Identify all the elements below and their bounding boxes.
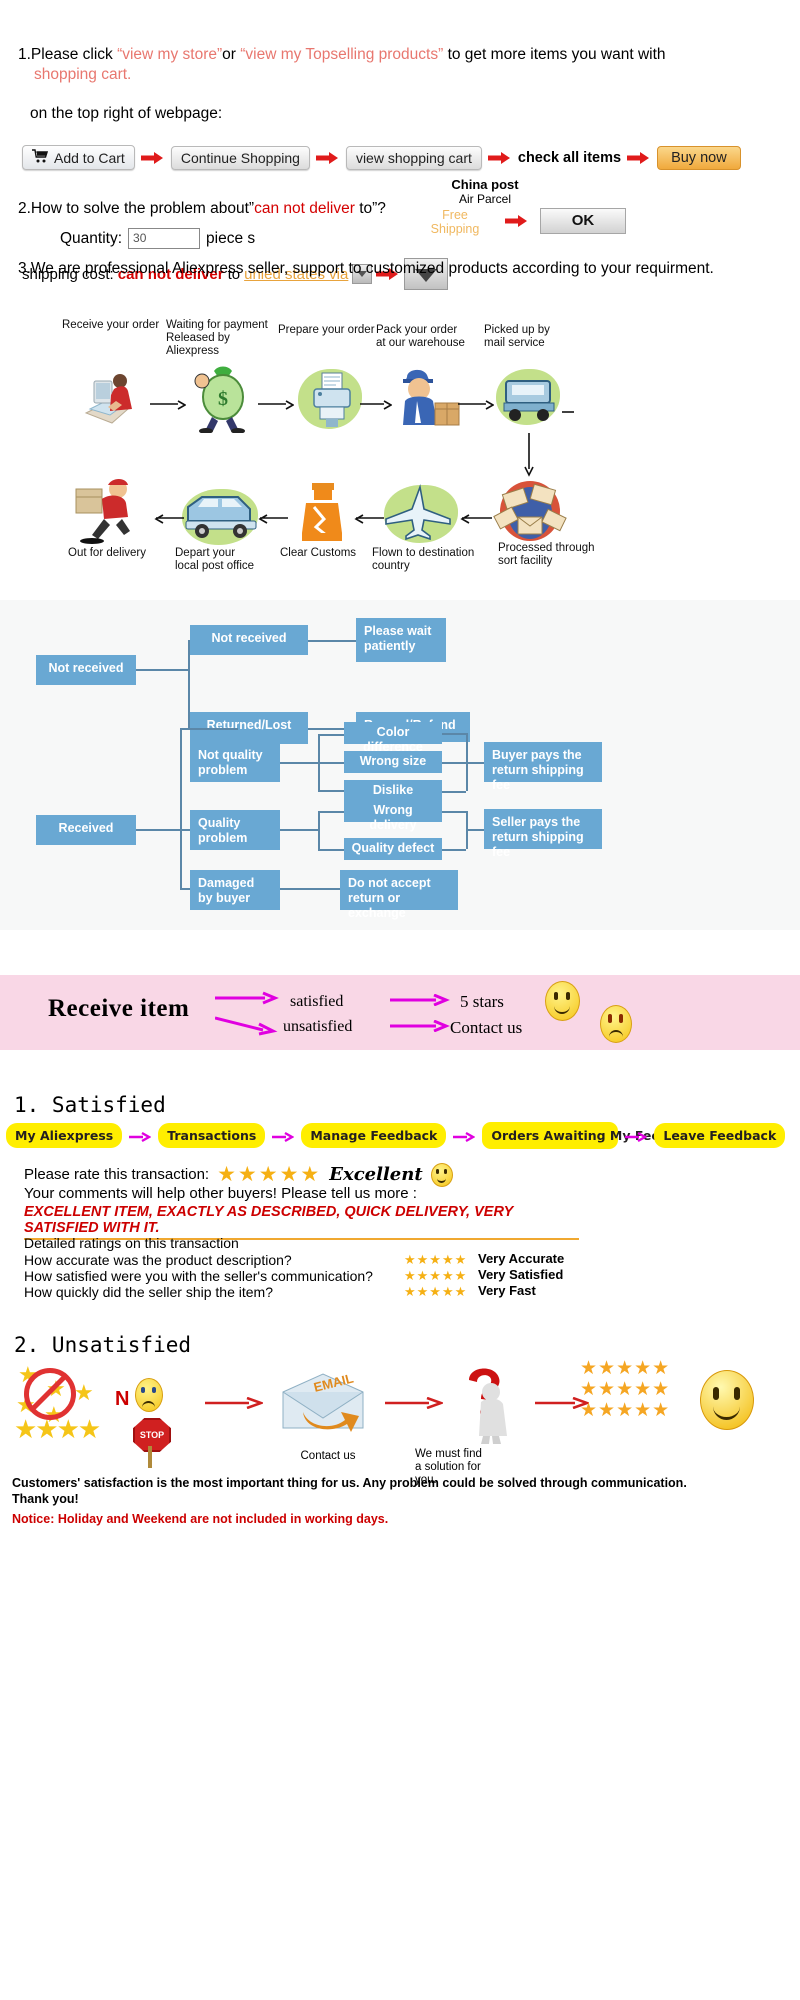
flow-no-return: Do not accept return or exchange [340,870,458,910]
sad-face-icon [600,1005,632,1043]
s1-text-mid: or [222,46,240,63]
add-to-cart-button[interactable]: Add to Cart [22,145,135,170]
magenta-arrow-icon [129,1130,151,1142]
shopping-cart-link[interactable]: shopping cart. [34,66,131,83]
s1-text-after: to get more items you want with [443,46,665,63]
prohibition-icon [24,1368,76,1420]
flow-color-difference: Color difference [344,722,442,744]
piece-label: piece s [206,230,255,248]
arrow-right-icon [627,151,651,165]
s1-text-before: 1.Please click [18,46,117,63]
flow-not-received-root: Not received [36,655,136,685]
banner-satisfied-label: satisfied [290,993,343,1011]
happy-face-icon [545,981,580,1021]
feedback-step-flow: My Aliexpress Transactions Manage Feedba… [6,1122,785,1149]
detailed-ratings-heading: Detailed ratings on this transaction [24,1235,239,1251]
arrow-right-icon [205,1396,263,1414]
crying-face-icon [135,1378,163,1412]
delivery-van-icon [182,485,260,549]
process-arrow-left-icon [458,511,492,521]
process-arrow-icon [150,397,186,407]
quantity-row: Quantity: 30 piece s [60,228,255,249]
step-orders-awaiting-my-feedback[interactable]: Orders Awaiting My Feedback [482,1122,618,1149]
worker-packing-icon [395,363,469,427]
receive-item-banner: Receive item satisfied unsatisfied 5 sta… [0,975,800,1050]
flow-line [318,790,346,792]
flow-line [318,762,346,764]
customs-officer-icon [288,481,356,545]
rating-stars-communication: ★★★★★ [404,1268,467,1284]
arrow-right-icon [488,151,512,165]
flow-not-received-branch: Not received [190,625,308,655]
view-my-store-link[interactable]: “view my store” [117,46,222,63]
flow-line [308,640,358,642]
china-post-subtitle: Air Parcel [420,192,550,206]
process-label-depart-post-office: Depart your local post office [175,547,275,573]
no-label: N [115,1388,129,1411]
rating-word: Excellent [329,1164,422,1185]
process-label-picked-up: Picked up by mail service [484,324,574,350]
promo-page: 1.Please click “view my store”or “view m… [0,0,800,2000]
rating-value-shipping-speed: Very Fast [478,1283,536,1298]
rating-value-accuracy: Very Accurate [478,1251,564,1266]
magenta-arrow-icon [215,1015,279,1042]
flow-line [280,829,320,831]
view-topselling-link[interactable]: “view my Topselling products” [240,46,443,63]
happy-face-icon [700,1370,754,1430]
rating-stars-shipping-speed: ★★★★★ [404,1284,467,1300]
process-arrow-icon [360,397,392,407]
checkout-button-flow: Add to Cart Continue Shopping view shopp… [22,145,741,170]
process-arrow-left-icon [352,511,384,521]
stop-sign-icon: STOP [133,1418,173,1452]
flow-line [442,849,466,851]
flow-line [136,829,180,831]
quantity-input[interactable]: 30 [128,228,200,249]
magenta-arrow-icon [215,991,279,1010]
step-my-aliexpress[interactable]: My Aliexpress [6,1123,122,1148]
printer-icon [300,367,364,431]
airplane-icon [384,483,458,547]
section3-heading: 3.We are professional Aliexpress seller,… [18,260,714,278]
flow-line [442,791,466,793]
five-star-grid: ★★★★★★★★★★★★★★★ [580,1358,700,1421]
s2-q-prefix: 2.How to solve the problem about” [18,200,254,217]
flow-line [442,811,466,813]
cart-icon [32,149,49,166]
magenta-arrow-icon [453,1130,475,1142]
question-mark-person-icon [445,1358,525,1444]
return-policy-flowchart: Not received Not received Returned/Lost … [0,600,800,930]
contact-us-label: Contact us [283,1450,373,1463]
flow-line [466,829,486,831]
flow-dislike: Dislike [344,780,442,802]
china-post-title: China post [420,177,550,192]
footer-notice: Notice: Holiday and Weekend are not incl… [12,1512,388,1526]
flow-line [180,728,182,888]
rating-stars-accuracy: ★★★★★ [404,1252,467,1268]
rating-question-accuracy: How accurate was the product description… [24,1252,292,1268]
flow-received-root: Received [36,815,136,845]
process-label-flown-destination: Flown to destination country [372,547,482,573]
happy-face-icon [431,1163,453,1187]
banner-five-stars-label: 5 stars [460,992,504,1012]
process-label-out-for-delivery: Out for delivery [68,547,168,560]
flow-line [442,762,466,764]
process-label-clear-customs: Clear Customs [280,547,380,560]
step-leave-feedback[interactable]: Leave Feedback [654,1123,785,1148]
process-label-pack-order: Pack your order at our warehouse [376,324,471,350]
rating-stars[interactable]: ★★★★★ [217,1162,321,1187]
unsatisfied-heading: 2. Unsatisfied [14,1333,191,1357]
view-shopping-cart-button[interactable]: view shopping cart [346,146,482,170]
rate-transaction-row: Please rate this transaction: ★★★★★ Exce… [24,1162,453,1187]
flow-wrong-size: Wrong size [344,751,442,773]
flow-line [318,811,346,813]
flow-quality-problem: Quality problem [190,810,280,850]
banner-unsatisfied-label: unsatisfied [283,1018,352,1036]
process-label-waiting-payment: Waiting for payment Released by Aliexpre… [166,319,276,358]
process-arrow-down-icon [524,433,534,482]
add-to-cart-label: Add to Cart [54,150,125,166]
quantity-label: Quantity: [60,230,122,248]
process-arrow-left-icon [256,511,288,521]
magenta-arrow-icon [390,1019,450,1037]
s2-q-suffix: to”? [355,200,386,217]
flow-line [318,811,320,849]
continue-shopping-button[interactable]: Continue Shopping [171,146,310,170]
flow-line [466,762,486,764]
comments-help-label: Your comments will help other buyers! Pl… [24,1185,417,1202]
rating-question-shipping-speed: How quickly did the seller ship the item… [24,1284,273,1300]
section1-subline: on the top right of webpage: [30,105,222,123]
arrow-right-icon [316,151,340,165]
section1-instruction: 1.Please click “view my store”or “view m… [18,45,778,85]
arrow-right-icon [505,214,529,228]
process-label-receive-order: Receive your order [62,319,162,332]
flow-line [180,728,238,730]
ok-button[interactable]: OK [540,208,626,234]
email-envelope-icon: EMAIL [275,1368,371,1436]
buy-now-button[interactable]: Buy now [657,146,741,170]
magenta-arrow-icon [625,1130,647,1142]
step-transactions[interactable]: Transactions [158,1123,265,1148]
process-arrow-icon [458,397,494,407]
banner-contact-us-label: Contact us [450,1018,522,1038]
receive-item-title: Receive item [48,995,189,1023]
flow-line [280,762,320,764]
china-post-block: China post Air Parcel [420,177,550,206]
flow-quality-defect: Quality defect [344,838,442,860]
flow-buyer-pays: Buyer pays the return shipping fee [484,742,602,782]
flow-please-wait: Please wait patiently [356,618,446,662]
mail-sorting-icon [492,477,568,541]
flow-not-quality-problem: Not quality problem [190,742,280,782]
svg-text:$: $ [218,388,228,410]
flow-line [280,888,342,890]
courier-running-icon [72,477,150,541]
magenta-arrow-icon [272,1130,294,1142]
bad-rating-cluster: ★ ★ ★ ★ ★ ★★★★ [14,1362,124,1448]
footer-satisfaction-note: Customers' satisfaction is the most impo… [12,1475,692,1507]
arrow-right-icon [385,1396,443,1414]
magenta-arrow-icon [390,993,450,1011]
process-arrow-icon [258,397,294,407]
arrow-right-icon [141,151,165,165]
flow-wrong-delivery: Wrong delivery [344,800,442,822]
process-arrow-left-icon [152,511,184,521]
person-at-computer-icon [78,367,142,431]
flow-line [442,733,466,735]
flow-line [318,849,346,851]
shipping-process-diagram: Receive your order Waiting for payment R… [0,305,800,580]
process-arrow-stub-icon [562,401,574,411]
s2-q-red: can not deliver [254,200,355,217]
flow-line [318,734,346,736]
section2-question: 2.How to solve the problem about”can not… [18,200,386,218]
check-all-items-label[interactable]: check all items [518,150,621,166]
process-label-sort-facility: Processed through sort facility [498,542,608,568]
process-label-prepare-order: Prepare your order [278,324,378,337]
rate-transaction-label: Please rate this transaction: [24,1166,209,1183]
money-bag-icon: $ [190,363,254,427]
flow-damaged-by-buyer: Damaged by buyer [190,870,280,910]
flow-seller-pays: Seller pays the return shipping fee [484,809,602,849]
free-shipping-label: Free Shipping [425,208,485,236]
rating-value-communication: Very Satisfied [478,1267,563,1282]
mail-truck-icon [498,367,562,431]
rating-question-communication: How satisfied were you with the seller's… [24,1268,373,1284]
flow-line [136,669,188,671]
step-manage-feedback[interactable]: Manage Feedback [301,1123,446,1148]
satisfied-heading: 1. Satisfied [14,1093,166,1117]
